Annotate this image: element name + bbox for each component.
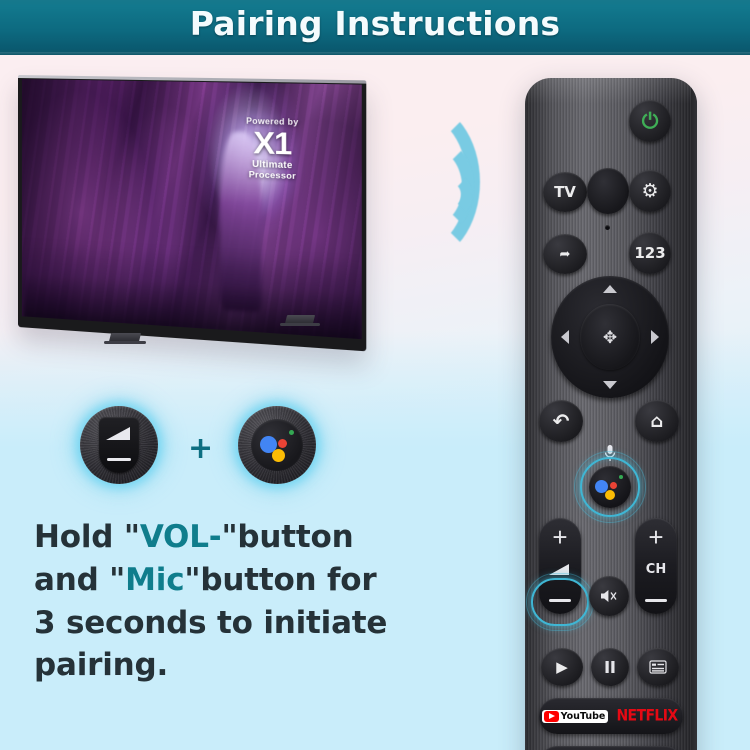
- google-assistant-icon: [251, 419, 303, 471]
- pause-button[interactable]: [591, 648, 629, 686]
- assistant-mini-dot-red: [610, 482, 617, 489]
- youtube-play-icon: [544, 711, 559, 722]
- assistant-button[interactable]: [589, 466, 631, 508]
- play-button[interactable]: ▶: [541, 648, 583, 686]
- line2-post: "button for: [184, 562, 376, 598]
- assistant-mini-dot-green: [619, 475, 623, 479]
- volume-down-highlight-ring: [531, 578, 589, 626]
- channel-up-button[interactable]: +: [635, 524, 677, 550]
- instruction-text: Hold "VOL-"button and "Mic"button for 3 …: [34, 516, 494, 687]
- input-icon: ➦: [560, 247, 571, 262]
- select-crosshair-icon: ✥: [603, 329, 617, 346]
- assistant-dot-green: [289, 430, 294, 435]
- dpad-right-icon[interactable]: [651, 330, 659, 344]
- channel-rocker[interactable]: + CH: [635, 518, 677, 614]
- guide-list-icon: [649, 660, 667, 674]
- tv-body: Powered by X1 Ultimate Processor: [18, 75, 366, 351]
- blank-button[interactable]: [587, 168, 629, 214]
- dpad-left-icon[interactable]: [561, 330, 569, 344]
- line1-pre: Hold ": [34, 519, 140, 555]
- signal-arc-small: [430, 172, 472, 218]
- header-bar: Pairing Instructions: [0, 0, 750, 55]
- plus-separator: +: [188, 434, 213, 464]
- mic-highlight: Mic: [125, 562, 184, 598]
- gear-icon: ⚙: [641, 180, 658, 202]
- dpad-up-icon[interactable]: [603, 285, 617, 293]
- volume-down-key-icon: [99, 417, 139, 473]
- vol-highlight: VOL-: [140, 519, 222, 555]
- back-arrow-icon: ↶: [553, 409, 570, 433]
- netflix-label: NETFLIX: [616, 707, 677, 725]
- youtube-button[interactable]: YouTube: [539, 710, 611, 723]
- app-button-row-1: YouTube NETFLIX: [539, 698, 683, 734]
- settings-button[interactable]: ⚙: [629, 170, 671, 212]
- button-badges: +: [72, 398, 332, 498]
- remote-top-highlight: [525, 78, 697, 104]
- volume-up-button[interactable]: +: [539, 524, 581, 550]
- line1-post: "button: [221, 519, 353, 555]
- power-button[interactable]: ⏻: [629, 100, 671, 142]
- x1-brand-label: X1: [203, 125, 344, 162]
- channel-label: CH: [635, 562, 677, 577]
- numeric-button[interactable]: 123: [629, 232, 671, 274]
- mic-badge: [238, 406, 316, 484]
- x1-processor-overlay: Powered by X1 Ultimate Processor: [203, 117, 344, 183]
- instruction-line-2: and "Mic"button for: [34, 559, 494, 602]
- youtube-logo: YouTube: [542, 710, 609, 723]
- power-icon: ⏻: [642, 111, 659, 132]
- tv-foot-left: [104, 341, 146, 344]
- page-title: Pairing Instructions: [0, 4, 750, 43]
- youtube-label: YouTube: [561, 711, 606, 722]
- assistant-mini-dot-yellow: [605, 490, 615, 500]
- assistant-dot-red: [278, 439, 287, 448]
- mute-button[interactable]: [589, 576, 629, 616]
- tv-button[interactable]: TV: [543, 172, 587, 212]
- pairing-instructions-page: Pairing Instructions Powered by X1 Ultim…: [0, 0, 750, 750]
- tv-illustration: Powered by X1 Ultimate Processor: [18, 75, 368, 360]
- channel-down-button[interactable]: [645, 599, 667, 602]
- tv-screen: Powered by X1 Ultimate Processor: [22, 79, 362, 339]
- back-button[interactable]: ↶: [539, 400, 583, 442]
- instruction-line-4: pairing.: [34, 644, 494, 687]
- dpad-down-icon[interactable]: [603, 381, 617, 389]
- home-icon: ⌂: [651, 411, 664, 432]
- guide-button[interactable]: [637, 648, 679, 686]
- pause-icon: [604, 660, 616, 674]
- play-icon: ▶: [556, 658, 568, 676]
- line2-pre: and ": [34, 562, 125, 598]
- assistant-dot-yellow: [272, 449, 285, 462]
- dpad[interactable]: ✥: [551, 276, 669, 398]
- tv-foot-right: [280, 323, 320, 326]
- volume-down-badge: [80, 406, 158, 484]
- remote-side-profile: [691, 78, 697, 750]
- ir-led-indicator: [605, 225, 610, 230]
- minus-icon: [107, 458, 131, 462]
- dpad-select-button[interactable]: ✥: [580, 304, 640, 370]
- app-button-row-2: DIS+ prime video: [539, 746, 683, 750]
- home-button[interactable]: ⌂: [635, 400, 679, 442]
- wireless-signal-icon: [400, 110, 530, 250]
- netflix-button[interactable]: NETFLIX: [611, 708, 683, 724]
- remote-control: ⏻ TV ⚙ ➦ 123 ✥ ↶ ⌂: [525, 78, 697, 750]
- mute-icon: [599, 588, 619, 604]
- input-source-button[interactable]: ➦: [543, 234, 587, 274]
- volume-triangle-icon: [106, 427, 130, 440]
- instruction-line-3: 3 seconds to initiate: [34, 602, 494, 645]
- instruction-line-1: Hold "VOL-"button: [34, 516, 494, 559]
